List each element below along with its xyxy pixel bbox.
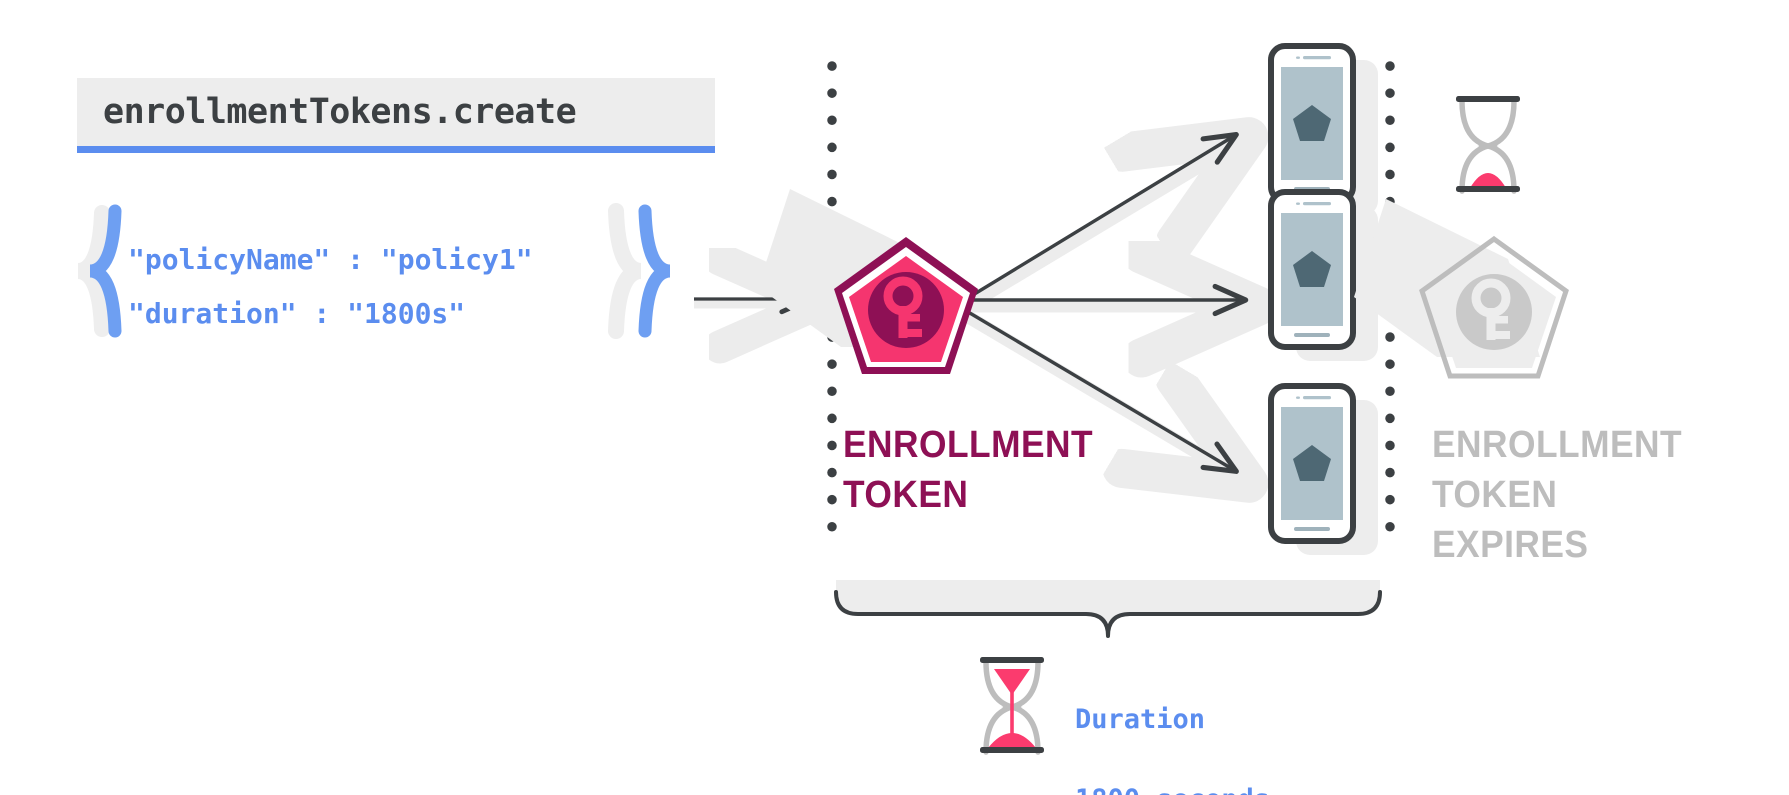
json-line-policy-name: "policyName" : "policy1" (128, 246, 648, 274)
device-3 (1271, 386, 1378, 555)
duration-label: Duration (1075, 700, 1270, 740)
api-method-header[interactable]: enrollmentTokens.create (77, 78, 715, 146)
json-line-duration: "duration" : "1800s" (128, 300, 648, 328)
duration-caption: Duration 1800 seconds (1075, 660, 1270, 795)
enrollment-token-icon (749, 176, 978, 374)
api-method-label: enrollmentTokens.create (103, 92, 576, 132)
hourglass-running-icon (980, 657, 1044, 753)
duration-span-brace (836, 580, 1380, 636)
json-brace-left (78, 211, 115, 331)
fan-arrow-middle (966, 300, 1248, 306)
enrollment-token-expires-label: ENROLLMENT TOKEN EXPIRES (1432, 420, 1682, 570)
diagram-canvas: enrollmentTokens.create "policyName" : "… (0, 0, 1789, 795)
enrollment-token-label: ENROLLMENT TOKEN (843, 420, 1093, 520)
expired-token-icon (1354, 199, 1566, 376)
duration-value: 1800 seconds (1075, 780, 1270, 795)
fan-arrow-top (958, 136, 1240, 310)
hourglass-empty-icon (1456, 96, 1520, 192)
request-body-json: "policyName" : "policy1" "duration" : "1… (128, 212, 648, 362)
api-method-underline (77, 146, 715, 153)
